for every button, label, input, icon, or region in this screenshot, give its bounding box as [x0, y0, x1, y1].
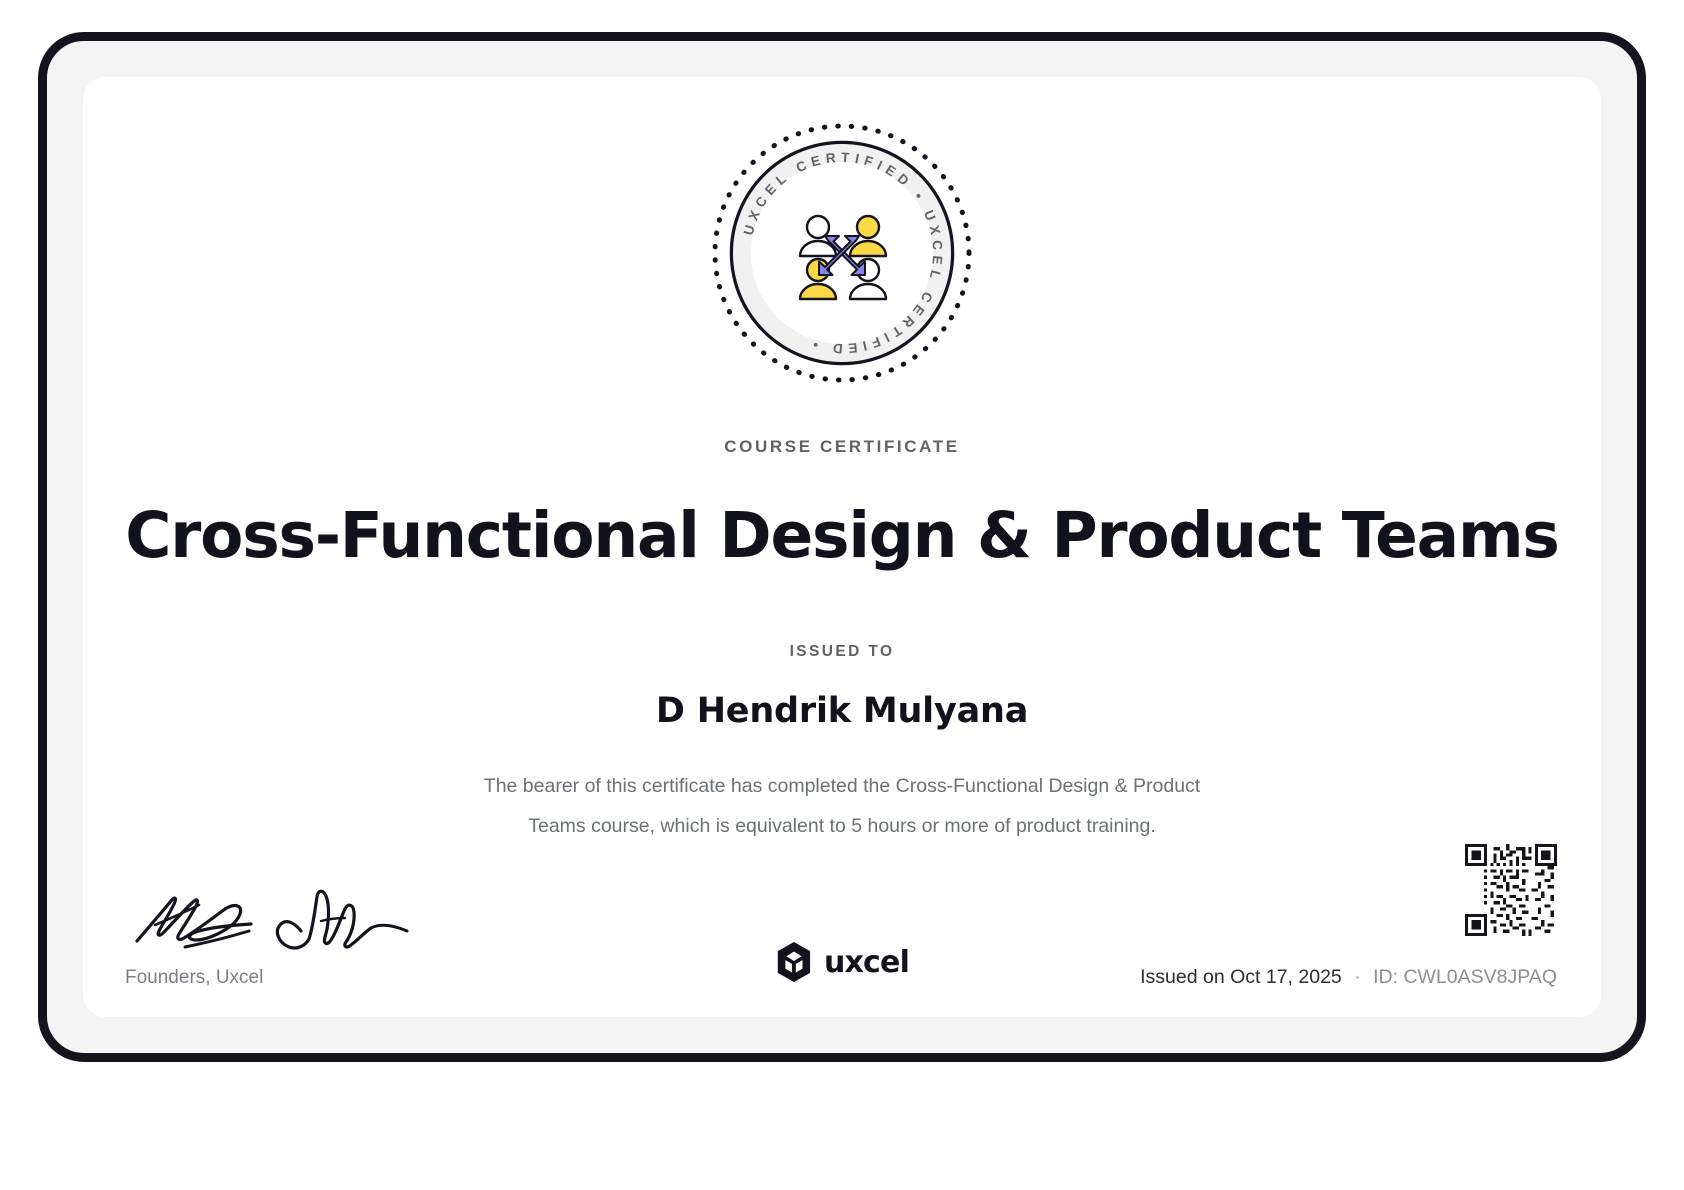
issue-info-block: Issued on Oct 17, 2025 · ID: CWL0ASV8JPA… [1140, 844, 1557, 989]
certificate-kicker: COURSE CERTIFICATE [83, 437, 1601, 457]
certificate-card: UXCEL CERTIFIED • UXCEL CERTIFIED • [83, 77, 1601, 1017]
signature-block: Founders, Uxcel [125, 869, 455, 989]
meta-separator: · [1347, 966, 1368, 988]
certificate-id: ID: CWL0ASV8JPAQ [1373, 966, 1557, 988]
issued-to-label: ISSUED TO [83, 643, 1601, 661]
qr-code-icon[interactable] [1465, 844, 1557, 936]
issued-on-text: Issued on Oct 17, 2025 [1140, 966, 1342, 988]
certificate-footer: Founders, Uxcel uxcel [83, 787, 1601, 1017]
seal-graphic: UXCEL CERTIFIED • UXCEL CERTIFIED • [708, 119, 976, 387]
uxcel-certified-seal: UXCEL CERTIFIED • UXCEL CERTIFIED • [708, 119, 976, 387]
uxcel-hexagon-icon [775, 941, 813, 983]
verification-qr-code[interactable] [1465, 844, 1557, 936]
signature-caption: Founders, Uxcel [125, 967, 455, 989]
issue-meta: Issued on Oct 17, 2025 · ID: CWL0ASV8JPA… [1140, 966, 1557, 989]
recipient-name: D Hendrik Mulyana [83, 691, 1601, 731]
founders-signature-icon [125, 869, 415, 953]
certificate-frame: UXCEL CERTIFIED • UXCEL CERTIFIED • [38, 32, 1646, 1062]
course-title: Cross-Functional Design & Product Teams [83, 502, 1601, 570]
uxcel-wordmark: uxcel [824, 945, 909, 980]
uxcel-brand-logo: uxcel [775, 941, 909, 983]
